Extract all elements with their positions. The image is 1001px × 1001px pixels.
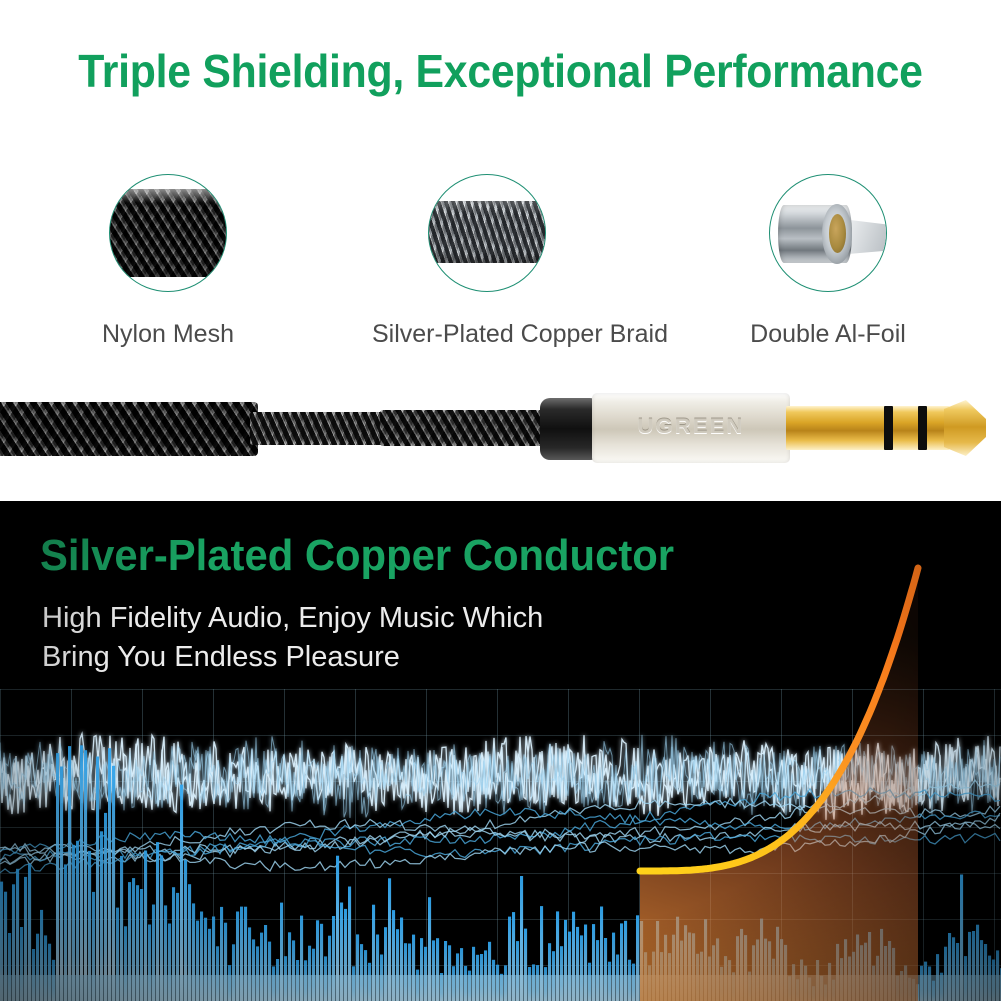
foil-roll-core bbox=[829, 214, 846, 253]
plug-insulator-ring bbox=[884, 406, 893, 450]
silver-braid-swatch-icon bbox=[428, 174, 546, 292]
top-white-panel: Triple Shielding, Exceptional Performanc… bbox=[0, 0, 1001, 501]
plug-insulator-ring bbox=[918, 406, 927, 450]
silver-braid-texture bbox=[428, 175, 546, 291]
vignette-overlay bbox=[0, 501, 1001, 1001]
product-cable-photo: UGREEN bbox=[0, 368, 1001, 501]
aluminum-foil-roll-icon bbox=[769, 174, 887, 292]
feature-silver-braid: Silver-Plated Copper Braid bbox=[372, 174, 602, 349]
feature-nylon-mesh: Nylon Mesh bbox=[53, 174, 283, 349]
cable-outer-braid-section bbox=[380, 410, 560, 446]
feature-double-al-foil: Double Al-Foil bbox=[713, 174, 943, 349]
bottom-black-panel: Silver-Plated Copper Conductor High Fide… bbox=[0, 501, 1001, 1001]
ugreen-brand-logo: UGREEN bbox=[587, 415, 795, 439]
nylon-mesh-swatch-icon bbox=[109, 174, 227, 292]
plug-tip bbox=[944, 400, 986, 456]
braid-weave-pattern bbox=[109, 189, 227, 277]
wire-strand-pattern bbox=[428, 201, 546, 263]
foil-tape-roll bbox=[778, 205, 878, 263]
nylon-mesh-texture bbox=[109, 175, 227, 291]
page-title: Triple Shielding, Exceptional Performanc… bbox=[35, 44, 966, 98]
feature-label-double-al-foil: Double Al-Foil bbox=[713, 320, 943, 349]
feature-label-silver-braid: Silver-Plated Copper Braid bbox=[372, 320, 602, 349]
feature-label-nylon-mesh: Nylon Mesh bbox=[53, 320, 283, 349]
product-marketing-image: Triple Shielding, Exceptional Performanc… bbox=[0, 0, 1001, 1001]
cable-nylon-jacket bbox=[0, 402, 258, 456]
connector-barrel: UGREEN bbox=[592, 393, 790, 463]
